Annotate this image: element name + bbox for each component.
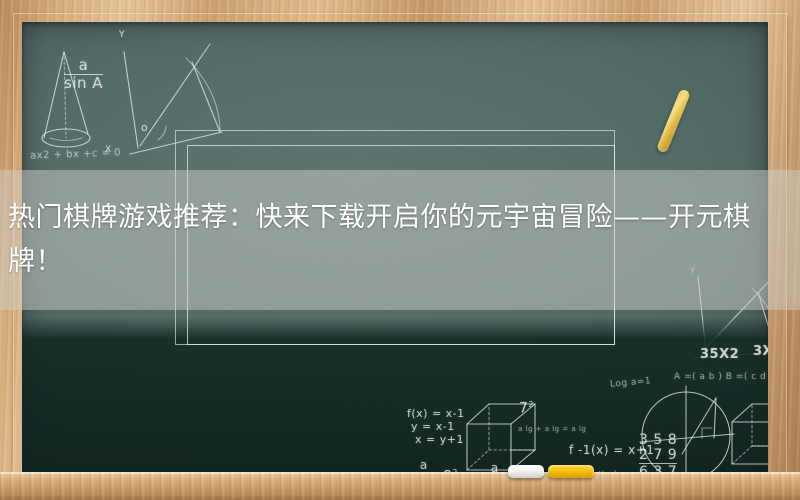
title-container: 热门棋牌游戏推荐：快来下载开启你的元宇宙冒险——开元棋牌！ (0, 170, 800, 310)
white-chalk-piece (508, 465, 544, 478)
ledge-wood-grain (0, 472, 800, 500)
chalk-ledge (0, 472, 800, 500)
yellow-chalk-piece (548, 465, 594, 478)
page-title: 热门棋牌游戏推荐：快来下载开启你的元宇宙冒险——开元棋牌！ (8, 196, 794, 284)
banner-image: a sin A ax2 + bx +c = 0 Y X o (0, 0, 800, 500)
